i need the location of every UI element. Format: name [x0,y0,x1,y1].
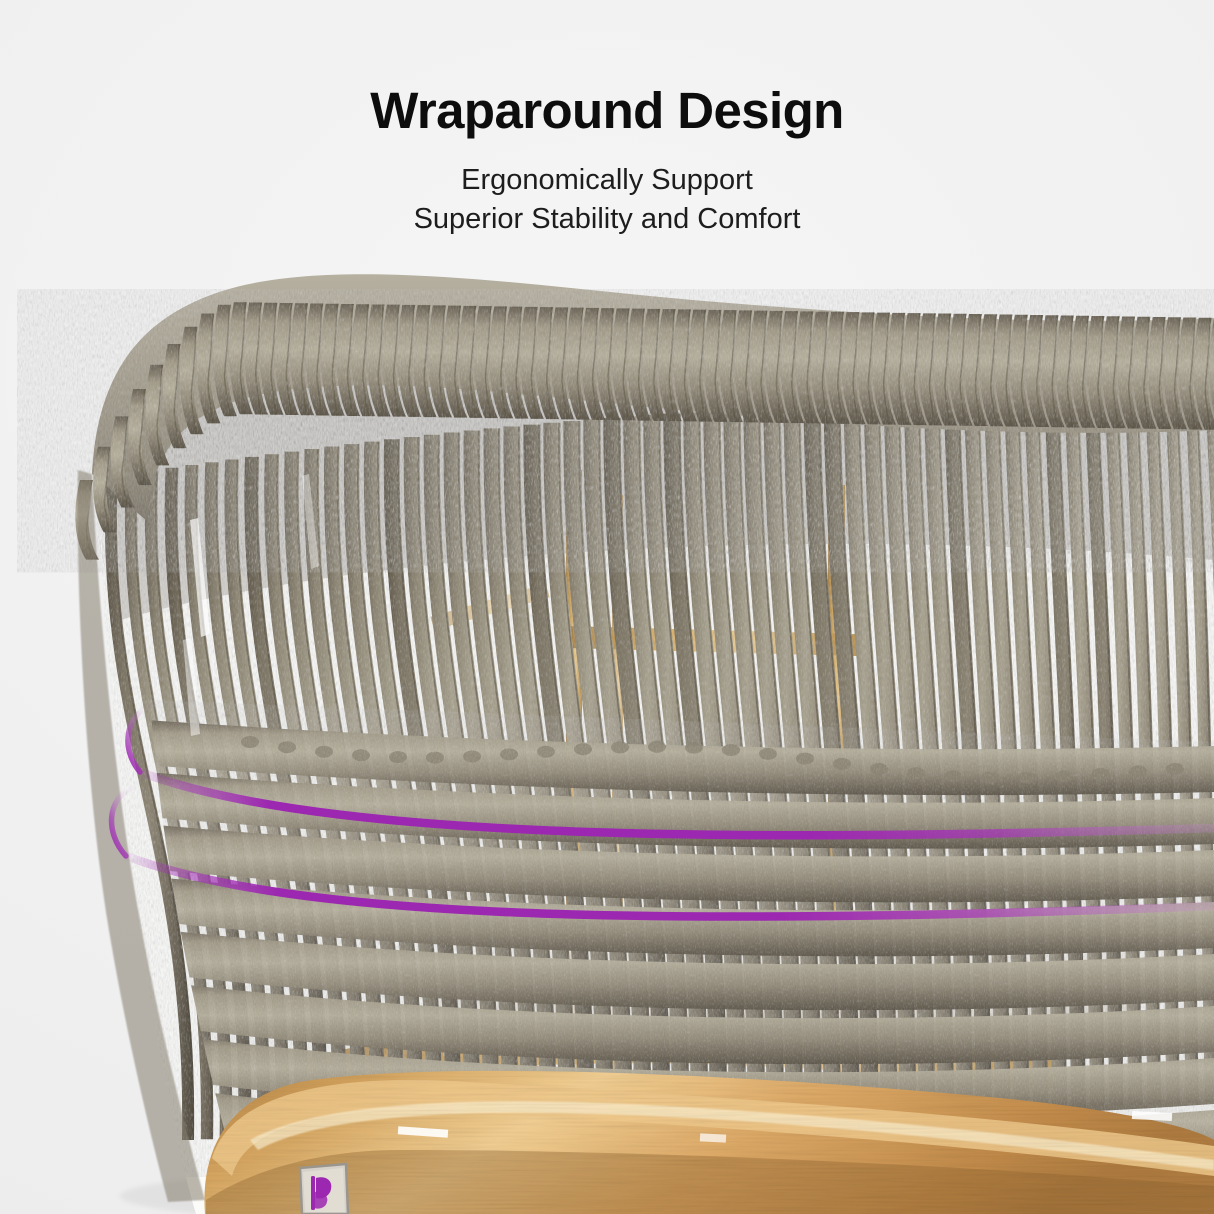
brand-badge [300,1164,348,1214]
subtitle-line-1: Ergonomically Support [0,161,1214,200]
page-subtitle: Ergonomically Support Superior Stability… [0,161,1214,238]
chair-back-shell [75,274,1214,1214]
headline-block: Wraparound Design Ergonomically Support … [0,82,1214,238]
page-title: Wraparound Design [0,82,1214,139]
subtitle-line-2: Superior Stability and Comfort [0,200,1214,239]
product-feature-image: Wraparound Design Ergonomically Support … [0,0,1214,1214]
